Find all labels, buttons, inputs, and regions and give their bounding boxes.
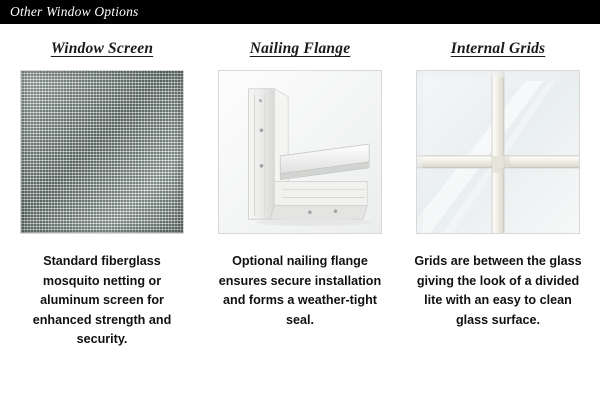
options-columns: Window Screen Standard fiberglass mosqui… bbox=[0, 24, 600, 400]
option-card-window-screen: Window Screen Standard fiberglass mosqui… bbox=[14, 24, 190, 400]
option-title-internal-grids: Internal Grids bbox=[451, 40, 546, 58]
option-caption-nailing-flange: Optional nailing flange ensures secure i… bbox=[214, 252, 386, 330]
internal-grids-graphic bbox=[417, 71, 579, 233]
option-title-nailing-flange: Nailing Flange bbox=[250, 40, 351, 58]
option-title-window-screen: Window Screen bbox=[51, 40, 153, 58]
option-card-internal-grids: Internal Grids bbox=[410, 24, 586, 400]
page-title: Other Window Options bbox=[0, 4, 139, 20]
option-card-nailing-flange: Nailing Flange bbox=[212, 24, 388, 400]
screen-mesh-vignette bbox=[21, 71, 183, 233]
nailing-flange-graphic bbox=[219, 71, 381, 233]
header-bar: Other Window Options bbox=[0, 0, 600, 24]
window-screen-mesh-photo bbox=[20, 70, 184, 234]
page-root: Other Window Options Window Screen Stand… bbox=[0, 0, 600, 400]
internal-grids-photo bbox=[416, 70, 580, 234]
nailing-flange-corner-photo bbox=[218, 70, 382, 234]
option-caption-window-screen: Standard fiberglass mosquito netting or … bbox=[16, 252, 188, 350]
option-caption-internal-grids: Grids are between the glass giving the l… bbox=[412, 252, 584, 330]
screen-mesh-graphic bbox=[21, 71, 183, 233]
